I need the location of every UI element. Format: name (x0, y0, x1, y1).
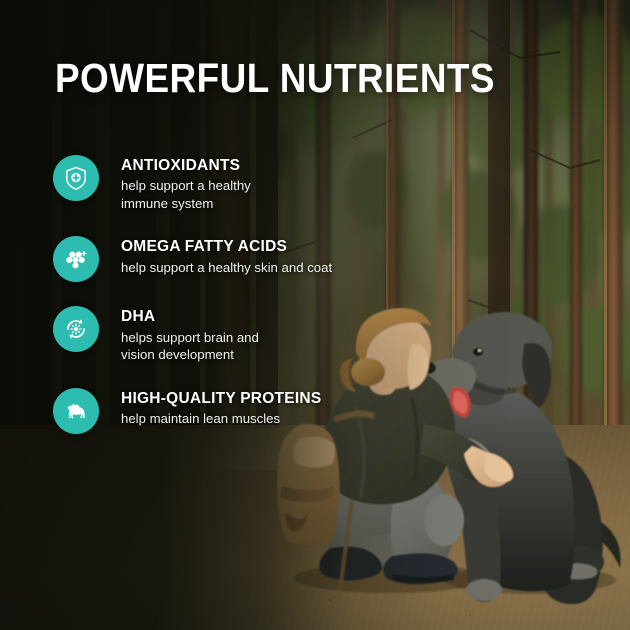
nutrition-poster: POWERFUL NUTRIENTS ANTIOXIDANTS help sup… (0, 0, 630, 630)
shield-plus-icon (62, 164, 90, 192)
feature-heading: DHA (121, 307, 259, 326)
feature-subtext: help support a healthy skin and coat (121, 259, 332, 277)
feature-heading: ANTIOXIDANTS (121, 156, 251, 175)
proteins-badge (53, 388, 99, 434)
dha-badge (53, 306, 99, 352)
list-item: HIGH-QUALITY PROTEINS help maintain lean… (53, 388, 473, 434)
cycle-burst-icon (62, 315, 90, 343)
antioxidants-badge (53, 155, 99, 201)
feature-subtext: help maintain lean muscles (121, 410, 321, 428)
proteins-copy: HIGH-QUALITY PROTEINS help maintain lean… (99, 388, 321, 428)
list-item: ANTIOXIDANTS help support a healthyimmun… (53, 155, 473, 212)
feature-heading: HIGH-QUALITY PROTEINS (121, 389, 321, 408)
list-item: DHA helps support brain andvision develo… (53, 306, 473, 363)
omega-badge (53, 236, 99, 282)
feature-heading: OMEGA FATTY ACIDS (121, 237, 332, 256)
molecule-cluster-icon (62, 245, 90, 273)
antioxidants-copy: ANTIOXIDANTS help support a healthyimmun… (99, 155, 251, 212)
list-item: OMEGA FATTY ACIDS help support a healthy… (53, 236, 473, 282)
feature-subtext: help support a healthyimmune system (121, 177, 251, 212)
dha-copy: DHA helps support brain andvision develo… (99, 306, 259, 363)
feature-subtext: helps support brain andvision developmen… (121, 329, 259, 364)
nutrient-feature-list: ANTIOXIDANTS help support a healthyimmun… (53, 155, 473, 434)
page-title: POWERFUL NUTRIENTS (55, 58, 495, 99)
omega-copy: OMEGA FATTY ACIDS help support a healthy… (99, 236, 332, 276)
dog-icon (61, 396, 91, 426)
